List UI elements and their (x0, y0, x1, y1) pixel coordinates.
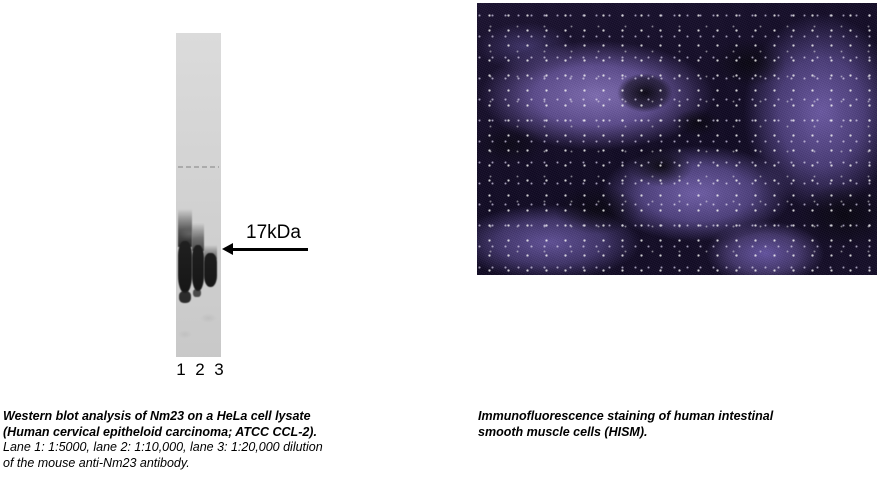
blot-lane-3 (204, 33, 217, 357)
caption-line: Western blot analysis of Nm23 on a HeLa … (3, 409, 443, 425)
molecular-weight-label: 17kDa (246, 222, 301, 244)
immunofluorescence-image (477, 3, 877, 275)
immunofluorescence-panel (477, 3, 877, 275)
immunofluorescence-caption: Immunofluorescence staining of human int… (478, 409, 878, 440)
lane-number-labels: 1 2 3 (174, 360, 226, 380)
band-main (204, 253, 217, 287)
blot-lane-2 (192, 33, 204, 357)
lane-label-2: 2 (193, 360, 207, 380)
band-lower (179, 291, 191, 303)
blot-membrane (176, 33, 221, 357)
caption-line: of the mouse anti-Nm23 antibody. (3, 456, 443, 472)
lane-label-1: 1 (174, 360, 188, 380)
band-lower (193, 289, 201, 297)
western-blot-panel: 1 2 3 17kDa (0, 0, 460, 400)
band-main (192, 245, 204, 291)
image-noise-grain (477, 3, 877, 275)
arrow-left-icon (228, 248, 308, 251)
blot-lane-1 (178, 33, 192, 357)
caption-line: smooth muscle cells (HISM). (478, 425, 878, 441)
western-blot-caption: Western blot analysis of Nm23 on a HeLa … (3, 409, 443, 471)
western-blot-image (176, 33, 221, 357)
molecular-weight-annotation: 17kDa (222, 222, 308, 262)
arrow-left-head-icon (222, 243, 233, 255)
caption-line: (Human cervical epitheloid carcinoma; AT… (3, 425, 443, 441)
caption-line: Lane 1: 1:5000, lane 2: 1:10,000, lane 3… (3, 440, 443, 456)
caption-line: Immunofluorescence staining of human int… (478, 409, 878, 425)
band-main (178, 241, 192, 293)
lane-label-3: 3 (212, 360, 226, 380)
